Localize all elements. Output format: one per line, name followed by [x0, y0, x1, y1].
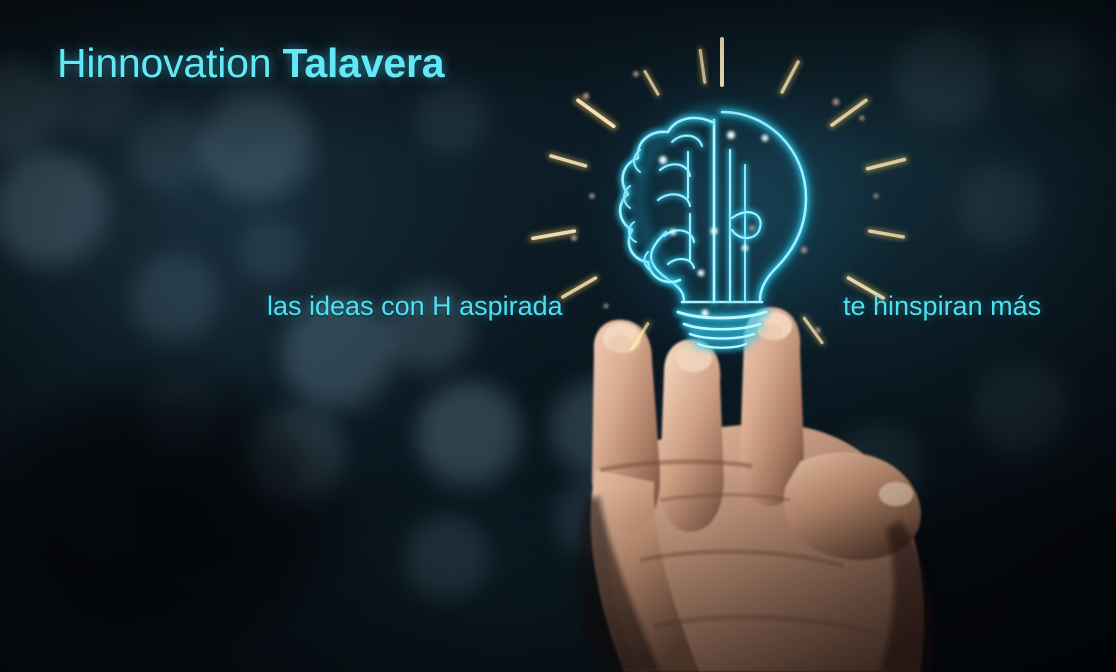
page-title: Hinnovation Talavera [57, 40, 444, 87]
background-gradient [0, 0, 1116, 672]
title-word-bold: Talavera [283, 40, 445, 86]
tagline-right: te hinspiran más [843, 291, 1041, 322]
banner-canvas: Hinnovation Talavera las ideas con H asp… [0, 0, 1116, 672]
title-word-light: Hinnovation [57, 40, 271, 86]
tagline-left: las ideas con H aspirada [267, 291, 563, 322]
title-separator [271, 40, 282, 86]
